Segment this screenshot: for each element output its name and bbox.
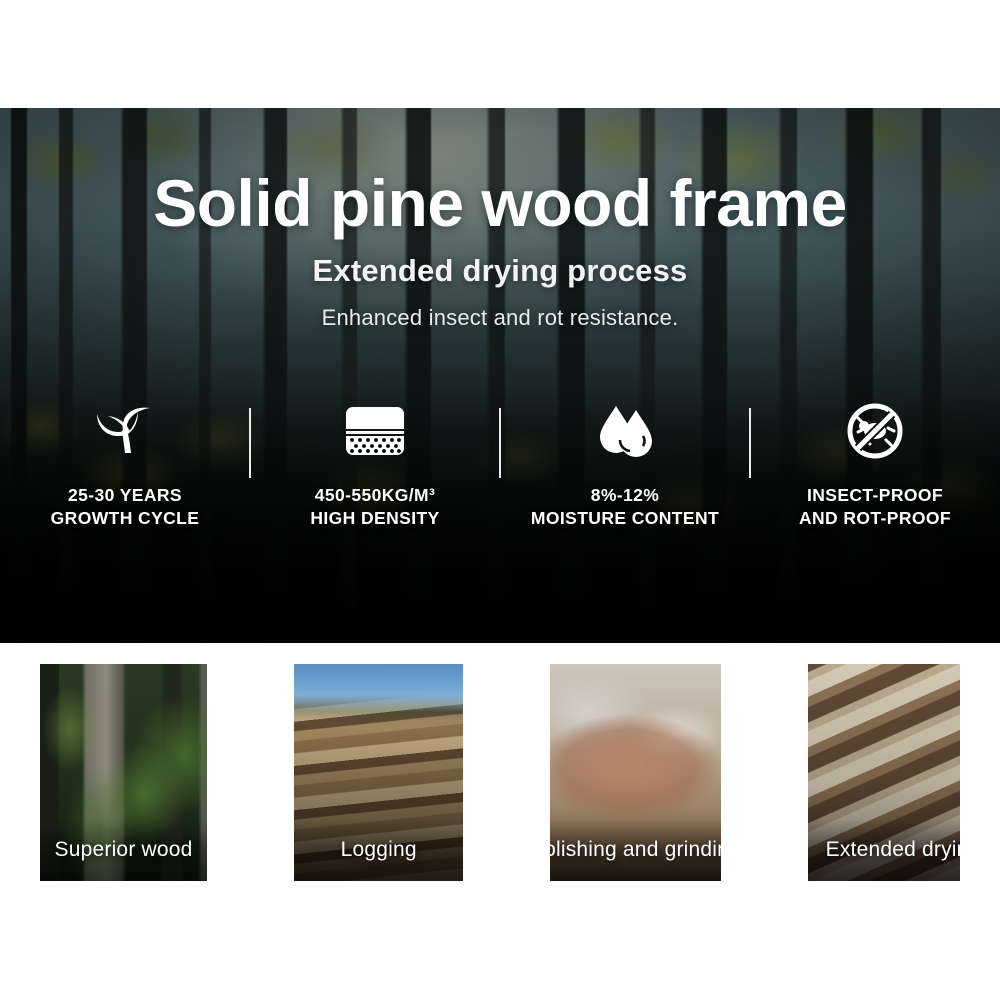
density-block-icon	[344, 400, 406, 462]
process-panel-extended-drying-process[interactable]: Extended drying proces	[808, 664, 960, 881]
panel-caption: Logging	[294, 819, 463, 881]
feature-item-moisture-content: 8%-12% MOISTURE CONTENT	[500, 400, 750, 531]
feature-line-2: HIGH DENSITY	[310, 507, 439, 530]
feature-list: 25-30 YEARS GROWTH CYCLE	[0, 400, 1000, 540]
feature-line-1: 25-30 YEARS	[51, 484, 200, 507]
panel-caption: Superior wood	[40, 819, 207, 881]
feature-line-2: AND ROT-PROOF	[799, 507, 951, 530]
panel-caption: Extended drying proces	[808, 819, 960, 881]
process-panel-superior-wood[interactable]: Superior wood	[40, 664, 207, 881]
water-droplets-icon	[596, 400, 654, 462]
feature-label-growth-cycle: 25-30 YEARS GROWTH CYCLE	[51, 484, 200, 531]
hero-description: Enhanced insect and rot resistance.	[0, 305, 1000, 331]
process-panel-logging[interactable]: Logging	[294, 664, 463, 881]
hero-title: Solid pine wood frame	[0, 170, 1000, 236]
feature-item-growth-cycle: 25-30 YEARS GROWTH CYCLE	[0, 400, 250, 531]
hero-banner: Solid pine wood frame Extended drying pr…	[0, 108, 1000, 643]
feature-label-insect-proof: INSECT-PROOF AND ROT-PROOF	[799, 484, 951, 531]
leaf-sprout-icon	[93, 400, 157, 462]
feature-item-insect-proof: INSECT-PROOF AND ROT-PROOF	[750, 400, 1000, 531]
feature-line-1: 450-550KG/M³	[310, 484, 439, 507]
feature-line-2: GROWTH CYCLE	[51, 507, 200, 530]
process-panel-strip: Superior wood Logging Polishing and grin…	[0, 648, 1000, 897]
hero-subtitle: Extended drying process	[0, 253, 1000, 289]
feature-item-high-density: 450-550KG/M³ HIGH DENSITY	[250, 400, 500, 531]
process-panel-polishing-and-grinding[interactable]: Polishing and grinding	[550, 664, 720, 881]
feature-label-moisture-content: 8%-12% MOISTURE CONTENT	[531, 484, 719, 531]
no-insect-icon	[846, 400, 904, 462]
feature-line-1: 8%-12%	[531, 484, 719, 507]
panel-caption: Polishing and grinding	[550, 819, 720, 881]
feature-line-2: MOISTURE CONTENT	[531, 507, 719, 530]
feature-line-1: INSECT-PROOF	[799, 484, 951, 507]
feature-label-high-density: 450-550KG/M³ HIGH DENSITY	[310, 484, 439, 531]
